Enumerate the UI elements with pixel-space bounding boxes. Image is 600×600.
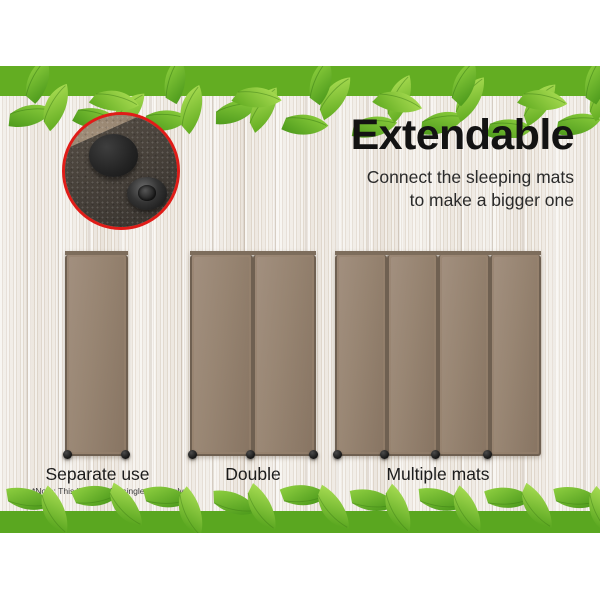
headline-title: Extendable — [306, 114, 574, 157]
snap-dot-icon — [309, 450, 318, 459]
mat-group-separate — [65, 251, 128, 456]
banner-panel: Extendable Connect the sleeping mats to … — [0, 66, 600, 533]
headline-block: Extendable Connect the sleeping mats to … — [306, 114, 574, 213]
snap-dot-icon — [121, 450, 130, 459]
headline-subtitle: Connect the sleeping mats to make a bigg… — [306, 166, 574, 213]
snap-dot-icon — [431, 450, 440, 459]
snap-dot-icon — [246, 450, 255, 459]
large-snap-button-icon — [89, 134, 138, 177]
snap-dot-icon — [188, 450, 197, 459]
snap-dot-icon — [483, 450, 492, 459]
product-banner-stage: Extendable Connect the sleeping mats to … — [0, 0, 600, 600]
mat-group-label-multiple: Multiple mats — [335, 464, 541, 485]
mat-panel — [387, 255, 439, 456]
mat-group-label-double: Double — [190, 464, 316, 485]
snap-dot-icon — [380, 450, 389, 459]
subtitle-line-1: Connect the sleeping mats — [367, 167, 574, 187]
mat-panel — [438, 255, 490, 456]
mat-panel — [490, 255, 542, 456]
footnote-text: *Note: This listing is for single mats o… — [32, 486, 185, 496]
small-snap-button-icon — [127, 177, 167, 211]
mat-panel — [65, 255, 128, 456]
snap-dot-icon — [333, 450, 342, 459]
mat-panel — [253, 255, 316, 456]
snap-button-closeup-photo — [62, 112, 180, 230]
mat-panel — [335, 255, 387, 456]
mat-panel — [190, 255, 253, 456]
subtitle-line-2: to make a bigger one — [410, 190, 574, 210]
mat-group-label-separate: Separate use — [20, 464, 175, 485]
mat-group-double — [190, 251, 316, 456]
mat-group-multiple — [335, 251, 541, 456]
snap-dot-icon — [63, 450, 72, 459]
